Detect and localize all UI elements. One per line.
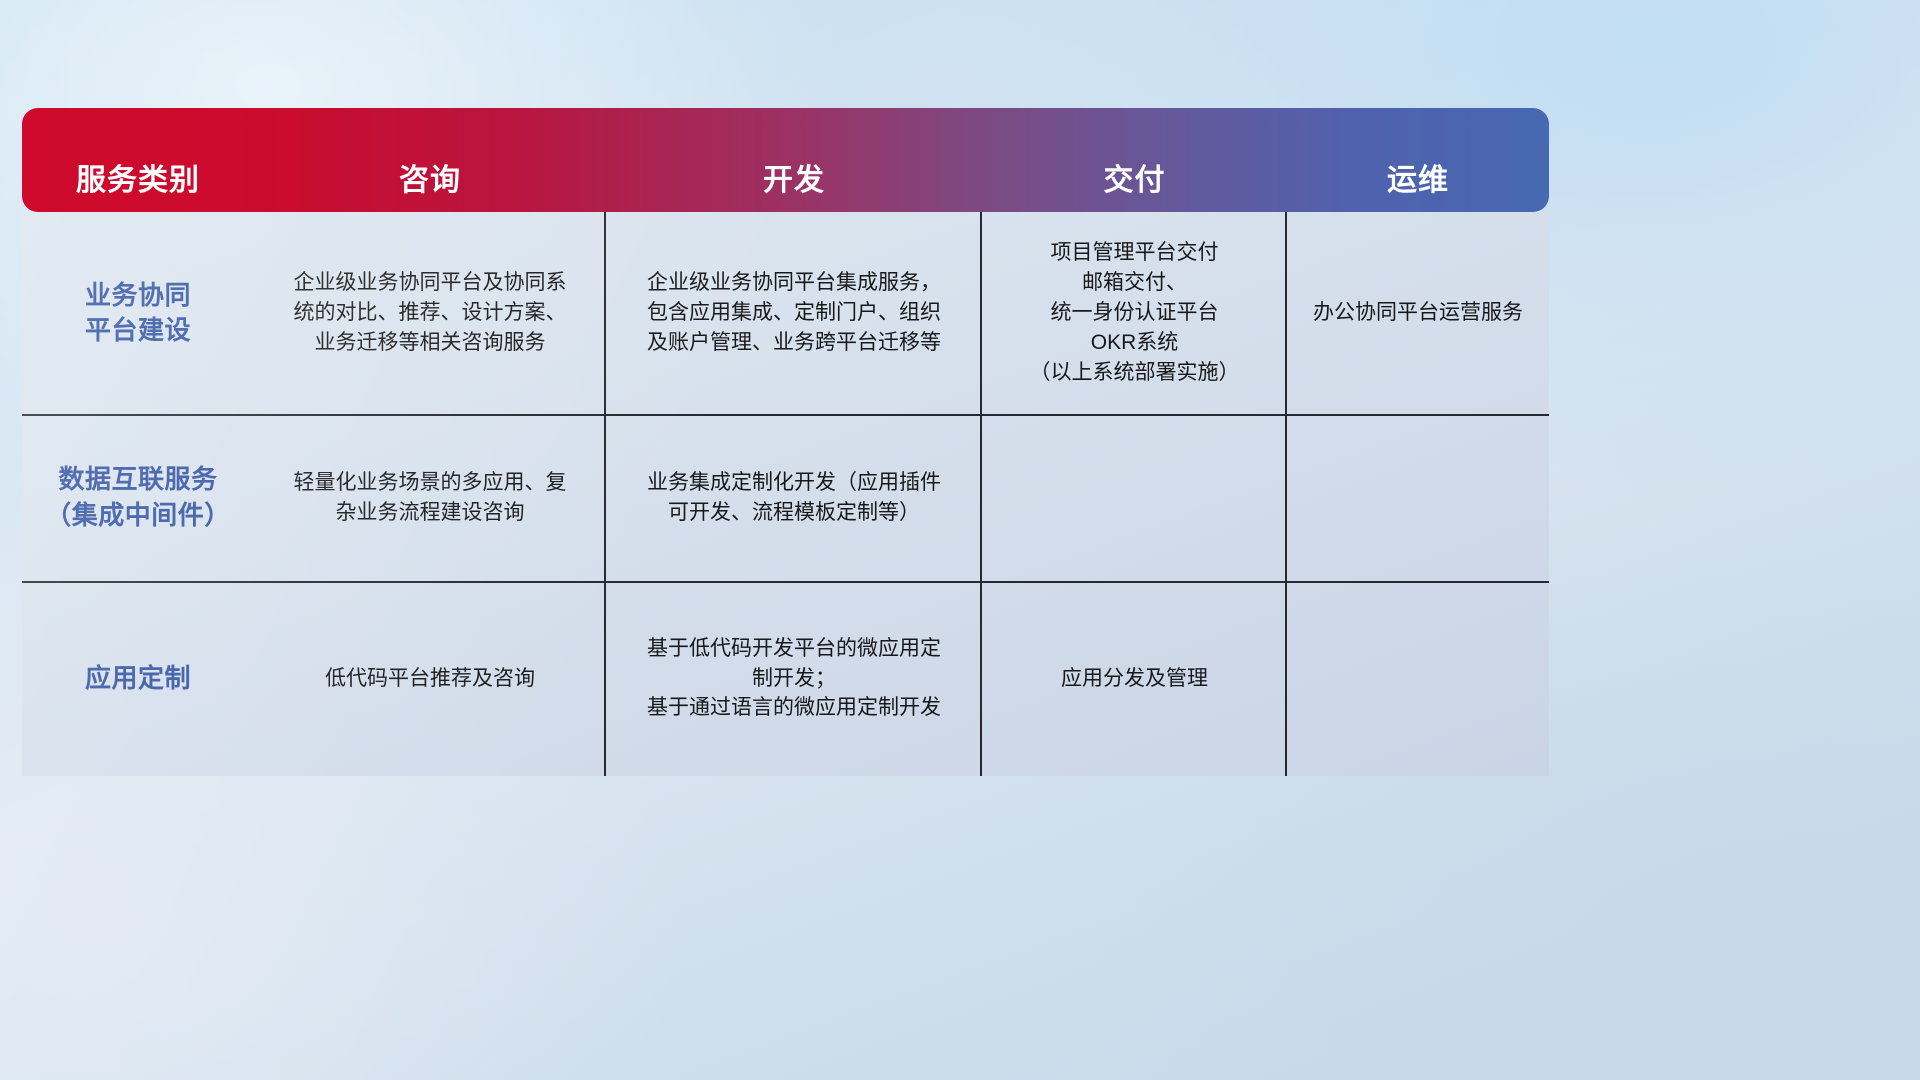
header-cell-delivery: 交付 [982,166,1287,200]
header-cell-development: 开发 [606,166,982,200]
header-cell-category: 服务类别 [22,166,254,200]
service-matrix-table: 服务类别 咨询 开发 交付 运维 业务协同 平台建设 企业级业务协同平台及协同系… [22,108,1549,776]
cell-delivery [982,414,1287,581]
cell-development: 企业级业务协同平台集成服务， 包含应用集成、定制门户、组织 及账户管理、业务跨平… [606,212,982,414]
cell-development: 基于低代码开发平台的微应用定 制开发； 基于通过语言的微应用定制开发 [606,581,982,776]
header-cell-consulting: 咨询 [254,166,606,200]
row-category-cell: 业务协同 平台建设 [22,212,254,414]
cell-operations: 办公协同平台运营服务 [1287,212,1549,414]
row-category-label: 业务协同 平台建设 [85,278,191,348]
table-row: 业务协同 平台建设 企业级业务协同平台及协同系 统的对比、推荐、设计方案、 业务… [22,212,1549,414]
cell-development: 业务集成定制化开发（应用插件 可开发、流程模板定制等） [606,414,982,581]
cell-operations [1287,414,1549,581]
row-category-cell: 数据互联服务 （集成中间件） [22,414,254,581]
table-header-row: 服务类别 咨询 开发 交付 运维 [22,108,1549,212]
table-row: 数据互联服务 （集成中间件） 轻量化业务场景的多应用、复 杂业务流程建设咨询 业… [22,414,1549,581]
cell-delivery: 项目管理平台交付 邮箱交付、 统一身份认证平台 OKR系统 （以上系统部署实施） [982,212,1287,414]
row-category-label: 数据互联服务 （集成中间件） [45,462,231,532]
cell-consulting: 企业级业务协同平台及协同系 统的对比、推荐、设计方案、 业务迁移等相关咨询服务 [254,212,606,414]
cell-operations [1287,581,1549,776]
row-category-label: 应用定制 [85,661,191,696]
table-body: 业务协同 平台建设 企业级业务协同平台及协同系 统的对比、推荐、设计方案、 业务… [22,212,1549,776]
row-category-cell: 应用定制 [22,581,254,776]
cell-consulting: 轻量化业务场景的多应用、复 杂业务流程建设咨询 [254,414,606,581]
slide-canvas: 服务类别 咨询 开发 交付 运维 业务协同 平台建设 企业级业务协同平台及协同系… [0,0,1920,1080]
cell-consulting: 低代码平台推荐及咨询 [254,581,606,776]
header-cell-operations: 运维 [1287,166,1549,200]
cell-delivery: 应用分发及管理 [982,581,1287,776]
table-row: 应用定制 低代码平台推荐及咨询 基于低代码开发平台的微应用定 制开发； 基于通过… [22,581,1549,776]
